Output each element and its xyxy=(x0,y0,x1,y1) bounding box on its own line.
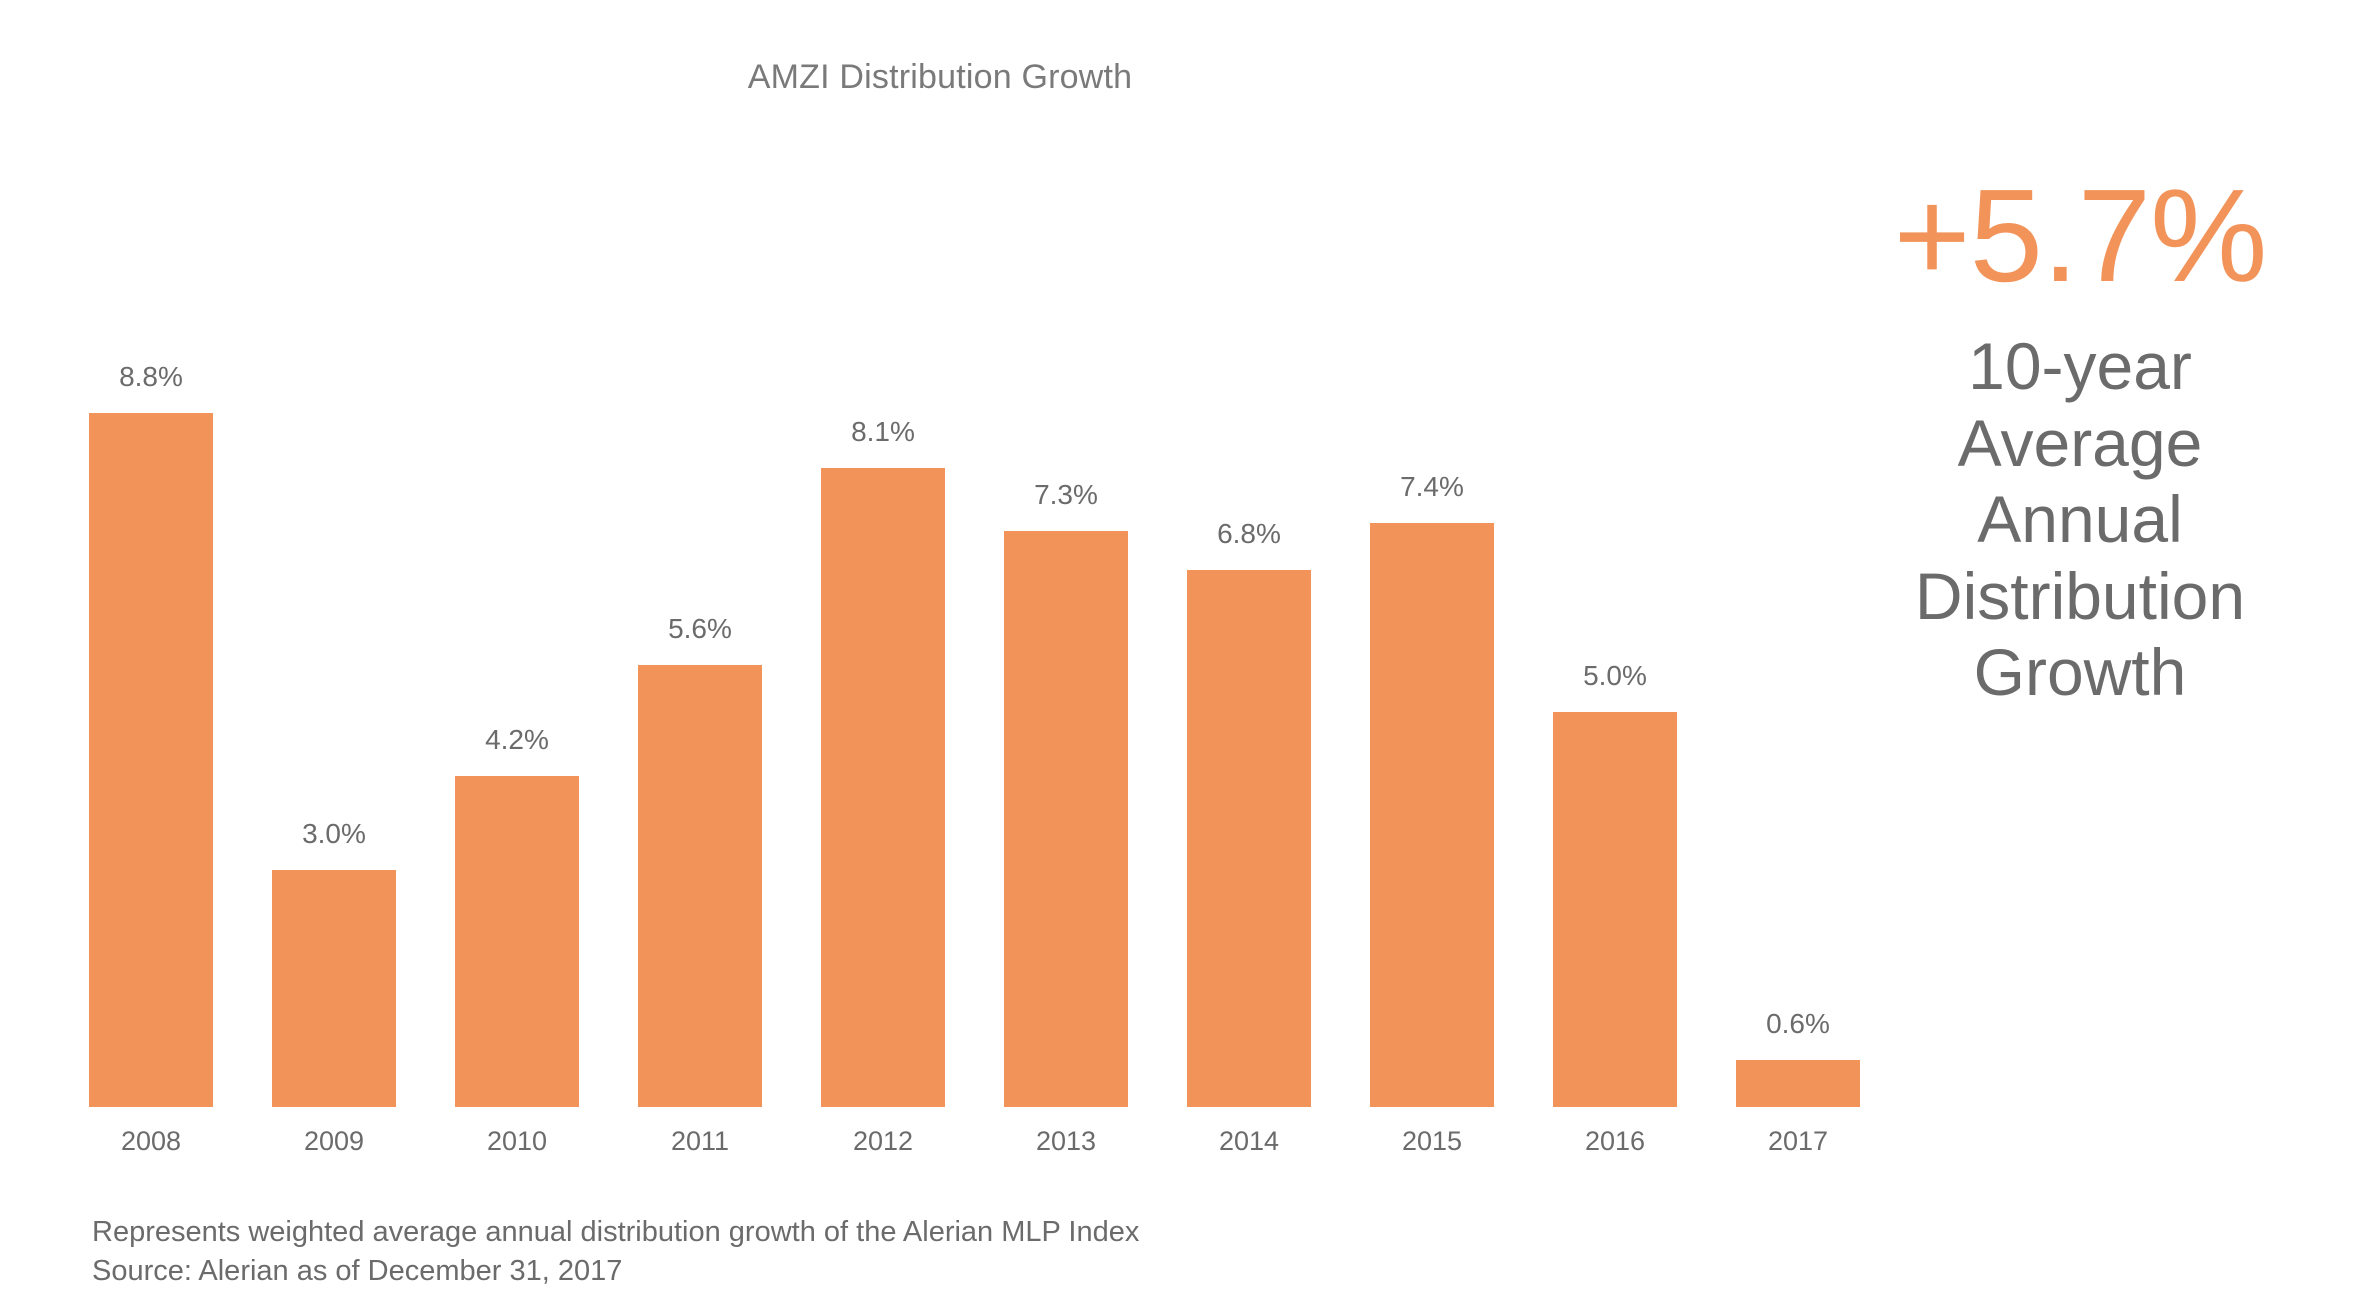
callout-caption: 10-yearAverageAnnualDistributionGrowth xyxy=(1840,328,2320,711)
category-label-2015: 2015 xyxy=(1370,1128,1494,1155)
footnote-line-1: Represents weighted average annual distr… xyxy=(92,1213,1139,1252)
bar-2010[interactable] xyxy=(455,776,579,1107)
bar-group-2009: 3.0% xyxy=(272,120,396,1107)
bar-value-label: 0.6% xyxy=(1766,1010,1830,1038)
bar-group-2010: 4.2% xyxy=(455,120,579,1107)
footnote-line-2: Source: Alerian as of December 31, 2017 xyxy=(92,1252,1139,1291)
bar-column[interactable]: 5.6% xyxy=(638,615,762,1107)
category-label-2010: 2010 xyxy=(455,1128,579,1155)
callout-caption-line-1: 10-year xyxy=(1840,328,2320,405)
callout-caption-line-4: Distribution xyxy=(1840,558,2320,635)
bar-value-label: 7.3% xyxy=(1034,481,1098,509)
bar-2016[interactable] xyxy=(1553,712,1677,1107)
bar-2008[interactable] xyxy=(89,413,213,1107)
bar-chart-plot-area: 8.8%3.0%4.2%5.6%8.1%7.3%6.8%7.4%5.0%0.6% xyxy=(89,120,1829,1107)
callout-caption-line-2: Average xyxy=(1840,405,2320,482)
bar-2015[interactable] xyxy=(1370,523,1494,1107)
category-label-2009: 2009 xyxy=(272,1128,396,1155)
category-label-2014: 2014 xyxy=(1187,1128,1311,1155)
bar-column[interactable]: 3.0% xyxy=(272,820,396,1107)
bar-column[interactable]: 5.0% xyxy=(1553,662,1677,1107)
bar-value-label: 8.1% xyxy=(851,418,915,446)
footnote-block: Represents weighted average annual distr… xyxy=(92,1213,1139,1290)
bar-column[interactable]: 8.8% xyxy=(89,363,213,1107)
bar-column[interactable]: 7.3% xyxy=(1004,481,1128,1107)
bar-group-2013: 7.3% xyxy=(1004,120,1128,1107)
category-label-2013: 2013 xyxy=(1004,1128,1128,1155)
bar-2009[interactable] xyxy=(272,870,396,1107)
bar-2011[interactable] xyxy=(638,665,762,1107)
callout-caption-line-5: Growth xyxy=(1840,634,2320,711)
callout-caption-line-3: Annual xyxy=(1840,481,2320,558)
bar-column[interactable]: 0.6% xyxy=(1736,1010,1860,1107)
bar-group-2016: 5.0% xyxy=(1553,120,1677,1107)
callout-block: +5.7% 10-yearAverageAnnualDistributionGr… xyxy=(1840,170,2320,711)
bar-column[interactable]: 4.2% xyxy=(455,726,579,1107)
bar-value-label: 6.8% xyxy=(1217,520,1281,548)
callout-figure: +5.7% xyxy=(1840,170,2320,302)
category-label-2016: 2016 xyxy=(1553,1128,1677,1155)
bar-column[interactable]: 6.8% xyxy=(1187,520,1311,1107)
bar-value-label: 7.4% xyxy=(1400,473,1464,501)
bar-group-2014: 6.8% xyxy=(1187,120,1311,1107)
bar-group-2012: 8.1% xyxy=(821,120,945,1107)
bar-2013[interactable] xyxy=(1004,531,1128,1107)
bar-value-label: 3.0% xyxy=(302,820,366,848)
bar-group-2011: 5.6% xyxy=(638,120,762,1107)
category-axis: 2008200920102011201220132014201520162017 xyxy=(89,1128,1829,1168)
bar-2017[interactable] xyxy=(1736,1060,1860,1107)
bar-value-label: 5.6% xyxy=(668,615,732,643)
bar-2014[interactable] xyxy=(1187,570,1311,1107)
category-label-2008: 2008 xyxy=(89,1128,213,1155)
bar-group-2008: 8.8% xyxy=(89,120,213,1107)
bar-column[interactable]: 8.1% xyxy=(821,418,945,1107)
category-label-2012: 2012 xyxy=(821,1128,945,1155)
bar-group-2015: 7.4% xyxy=(1370,120,1494,1107)
category-label-2011: 2011 xyxy=(638,1128,762,1155)
bar-value-label: 5.0% xyxy=(1583,662,1647,690)
bar-column[interactable]: 7.4% xyxy=(1370,473,1494,1107)
chart-title: AMZI Distribution Growth xyxy=(0,58,1880,97)
bar-value-label: 8.8% xyxy=(119,363,183,391)
bar-2012[interactable] xyxy=(821,468,945,1107)
category-label-2017: 2017 xyxy=(1736,1128,1860,1155)
bar-value-label: 4.2% xyxy=(485,726,549,754)
slide-canvas: AMZI Distribution Growth 8.8%3.0%4.2%5.6… xyxy=(0,0,2375,1310)
